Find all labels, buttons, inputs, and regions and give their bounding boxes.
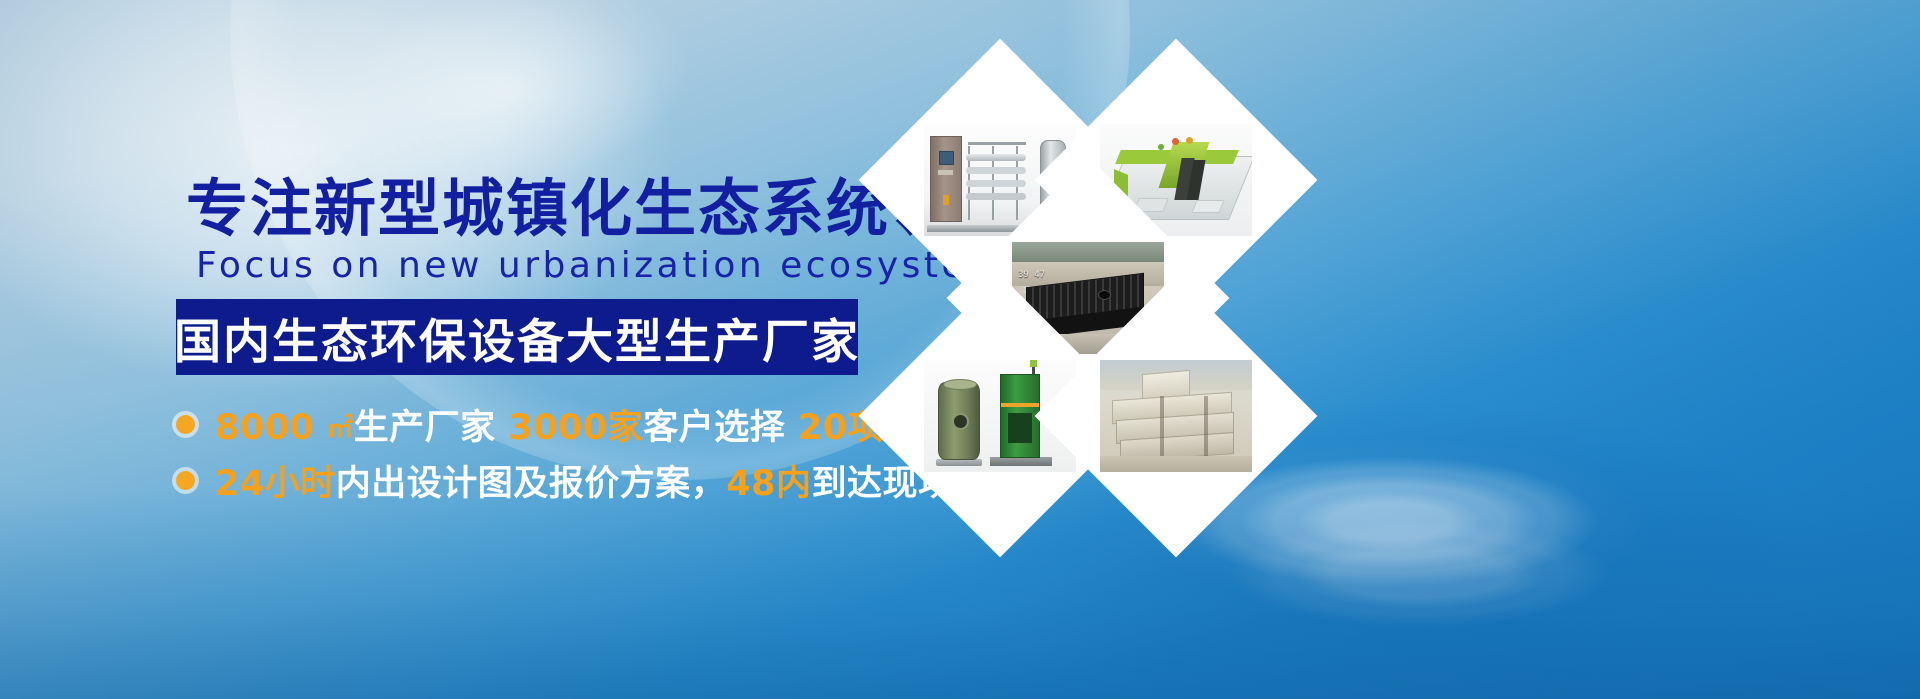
bullet-segment: 生产厂家	[354, 408, 509, 448]
bullet-segment: 48内	[726, 464, 811, 504]
banner-subtitle: Focus on new urbanization ecosystem	[196, 248, 1006, 284]
hero-banner: 专注新型城镇化生态系统领域 Focus on new urbanization …	[0, 0, 1920, 699]
panel-stack-image	[1100, 360, 1252, 472]
ribbon-label: 国内生态环保设备大型生产厂家	[174, 303, 860, 372]
bullet-text-2: 24小时内出设计图及报价方案，48内到达现场	[215, 455, 953, 506]
bullet-segment: ㎡	[327, 414, 354, 444]
bullet-dot-icon	[176, 415, 195, 434]
banner-copy: 专注新型城镇化生态系统领域 Focus on new urbanization …	[0, 0, 940, 699]
banner-ribbon: 国内生态环保设备大型生产厂家	[176, 299, 858, 375]
product-diamond-gallery: 39 4716 9	[900, 40, 1370, 510]
list-item: 24小时内出设计图及报价方案，48内到达现场	[176, 456, 1025, 504]
bullet-dot-icon	[176, 471, 195, 490]
bullet-segment: 3000家	[508, 408, 643, 448]
bullet-segment: 客户选择	[643, 408, 798, 448]
bullet-segment: 8000	[215, 408, 327, 448]
bullet-segment: 24小时	[215, 464, 336, 504]
bullet-segment: 内出设计图及报价方案，	[336, 464, 727, 504]
